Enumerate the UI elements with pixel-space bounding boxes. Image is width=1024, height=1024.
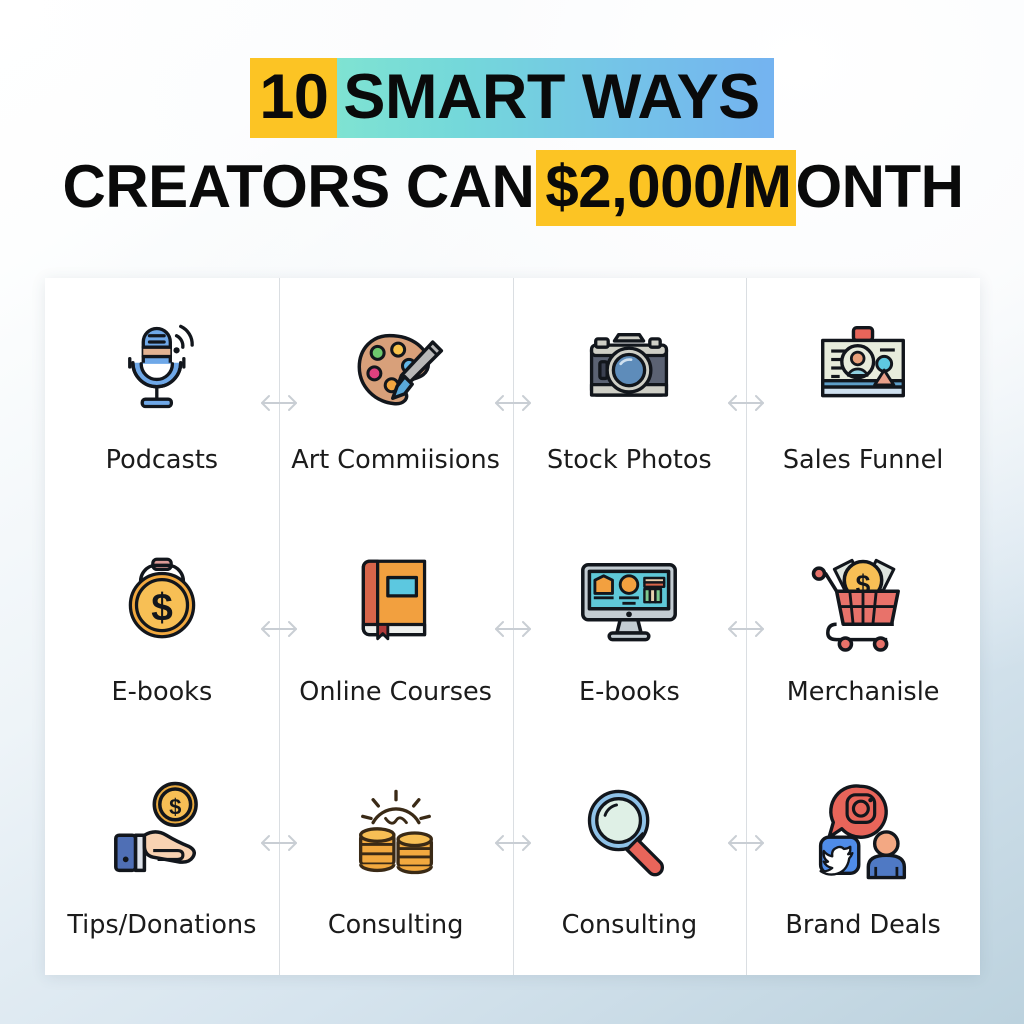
grid-cell-ebooks-monitor[interactable]: E-books xyxy=(513,510,747,742)
headline-smart-ways-highlight: SMART WAYS xyxy=(337,58,773,138)
double-arrow-icon xyxy=(256,391,302,415)
book-icon xyxy=(331,545,461,655)
headline: 10SMART WAYS CREATORS CAN $2,000/MONTH xyxy=(0,58,1024,226)
hand-coin-icon: $ xyxy=(97,778,227,888)
cell-label: Brand Deals xyxy=(785,910,940,940)
grid-cell-merchanisle[interactable]: $ Merchan xyxy=(746,510,980,742)
double-arrow-icon xyxy=(723,831,769,855)
headline-amount-highlight: $2,000/M xyxy=(536,150,795,226)
headline-line-2: CREATORS CAN $2,000/MONTH xyxy=(0,150,1024,226)
double-arrow-icon xyxy=(490,617,536,641)
headline-amount-tail: ONTH xyxy=(796,150,964,226)
double-arrow-icon xyxy=(256,831,302,855)
double-arrow-icon xyxy=(490,831,536,855)
monitor-books-icon xyxy=(564,545,694,655)
grid-cell-brand-deals[interactable]: Brand Deals xyxy=(746,743,980,975)
grid-cell-stock-photos[interactable]: Stock Photos xyxy=(513,278,747,510)
grid-cell-online-courses[interactable]: Online Courses xyxy=(279,510,513,742)
cell-label: Art Commiisions xyxy=(291,445,500,475)
infographic-poster: 10SMART WAYS CREATORS CAN $2,000/MONTH xyxy=(0,0,1024,1024)
cell-label: Stock Photos xyxy=(547,445,712,475)
coin-stacks-icon xyxy=(331,778,461,888)
magnifying-glass-icon xyxy=(564,778,694,888)
double-arrow-icon xyxy=(723,617,769,641)
double-arrow-icon xyxy=(723,391,769,415)
grid-cell-podcasts[interactable]: Podcasts xyxy=(45,278,279,510)
grid-cell-art-commiisions[interactable]: Art Commiisions xyxy=(279,278,513,510)
grid-cell-consulting-coins[interactable]: Consulting xyxy=(279,743,513,975)
headline-line-1: 10SMART WAYS xyxy=(0,58,1024,138)
cell-label: Podcasts xyxy=(106,445,218,475)
grid-cell-tips-donations[interactable]: $ Tips/Donations xyxy=(45,743,279,975)
grid-cell-sales-funnel[interactable]: Sales Funnel xyxy=(746,278,980,510)
svg-text:$: $ xyxy=(169,794,181,819)
palette-icon xyxy=(331,313,461,423)
cell-label: Online Courses xyxy=(299,677,492,707)
cell-label: E-books xyxy=(111,677,212,707)
grid-cell-ebooks-coin[interactable]: $ E-books xyxy=(45,510,279,742)
social-media-icon xyxy=(798,778,928,888)
double-arrow-icon xyxy=(490,391,536,415)
cell-label: Consulting xyxy=(562,910,698,940)
camera-icon xyxy=(564,313,694,423)
headline-creators-can-text: CREATORS CAN xyxy=(61,150,537,226)
cell-label: Tips/Donations xyxy=(67,910,256,940)
svg-text:$: $ xyxy=(151,587,173,630)
dashboard-card-icon xyxy=(798,313,928,423)
cell-label: Consulting xyxy=(328,910,464,940)
items-card: Podcasts xyxy=(45,278,980,975)
cell-label: E-books xyxy=(579,677,680,707)
headline-number-highlight: 10 xyxy=(250,58,337,138)
grid-cell-consulting-search[interactable]: Consulting xyxy=(513,743,747,975)
microphone-icon xyxy=(97,313,227,423)
cell-label: Sales Funnel xyxy=(783,445,944,475)
double-arrow-icon xyxy=(256,617,302,641)
shopping-cart-money-icon: $ xyxy=(798,545,928,655)
dollar-coin-medallion-icon: $ xyxy=(97,545,227,655)
cell-label: Merchanisle xyxy=(787,677,940,707)
